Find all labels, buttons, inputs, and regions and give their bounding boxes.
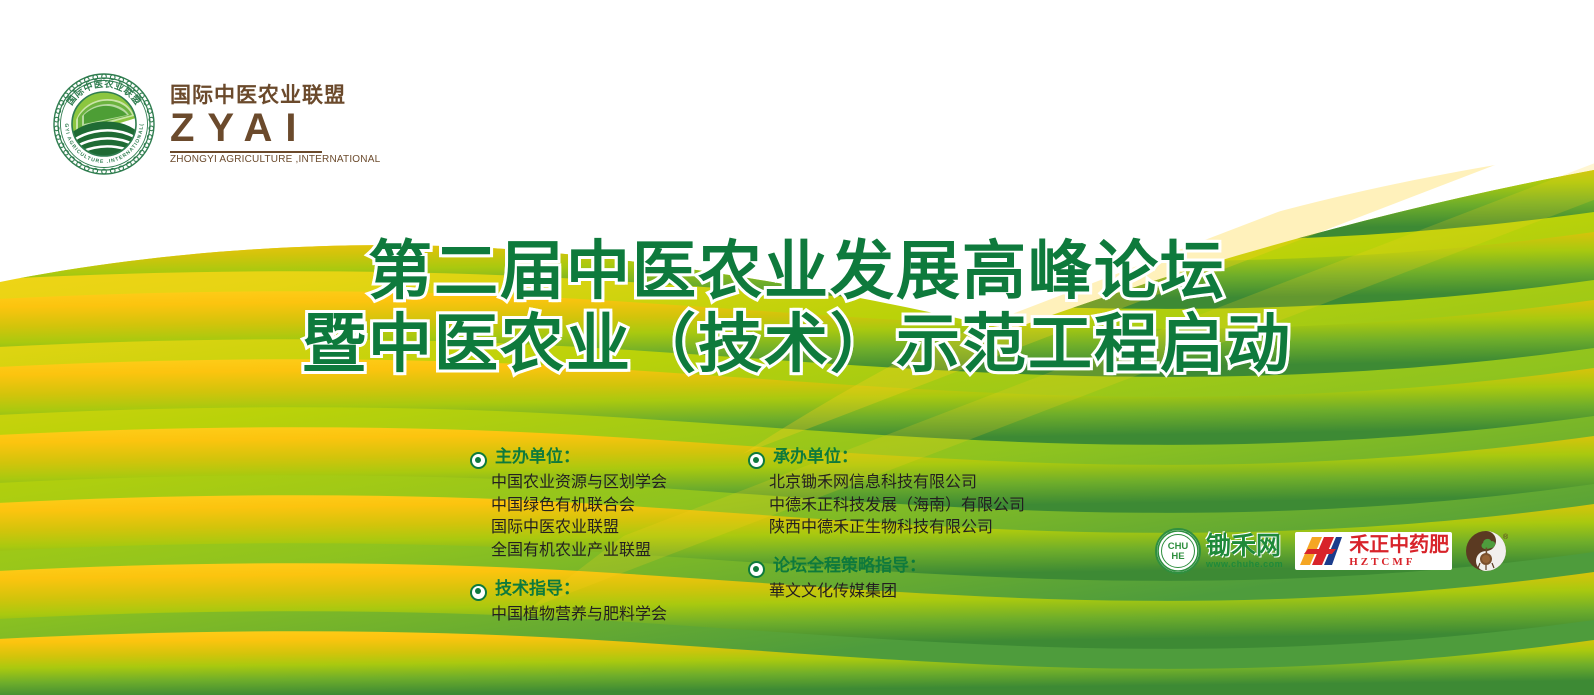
info-item-list: 中国农业资源与区划学会 中国绿色有机联合会 国际中医农业联盟 全国有机农业产业联… [491, 471, 732, 562]
sponsor-logo-tree: ® [1464, 529, 1508, 573]
info-heading: 技术指导： [495, 580, 580, 600]
list-item: 中国植物营养与肥料学会 [491, 603, 732, 626]
hzt-mark-icon [1298, 535, 1344, 567]
list-item: 華文文化传媒集团 [769, 580, 1048, 603]
poster-canvas: 国际中医农业联盟 ZHONGYI AGRICULTURE .INTERNATIO… [0, 0, 1594, 695]
zyai-seal-icon: 国际中医农业联盟 ZHONGYI AGRICULTURE .INTERNATIO… [52, 72, 156, 176]
bullet-icon [748, 561, 765, 578]
info-item-list: 中国植物营养与肥料学会 [491, 603, 732, 626]
svg-text:HE: HE [1171, 551, 1184, 562]
info-heading-row: 承办单位： [748, 448, 1048, 469]
list-item: 中德禾正科技发展（海南）有限公司 [769, 494, 1048, 517]
logo-chinese-name: 国际中医农业联盟 [170, 85, 346, 106]
info-group-co-organizers: 承办单位： 北京锄禾网信息科技有限公司 中德禾正科技发展（海南）有限公司 陕西中… [748, 448, 1048, 539]
info-heading-row: 技术指导： [470, 580, 732, 601]
sponsor-logo-chuhe: CHU HE 锄禾网 www.chuhe.com [1155, 528, 1283, 574]
list-item: 北京锄禾网信息科技有限公司 [769, 471, 1048, 494]
organizer-info: 主办单位： 中国农业资源与区划学会 中国绿色有机联合会 国际中医农业联盟 全国有… [470, 448, 1048, 644]
info-heading-row: 主办单位： [470, 448, 732, 469]
info-column-left: 主办单位： 中国农业资源与区划学会 中国绿色有机联合会 国际中医农业联盟 全国有… [470, 448, 732, 644]
chuhe-seal-icon: CHU HE [1155, 528, 1201, 574]
logo-wordmark: 国际中医农业联盟 ZYAI ZHONGYI AGRICULTURE ,INTER… [170, 83, 346, 165]
tree-yinyang-icon: ® [1464, 529, 1508, 573]
info-group-strategy-guidance: 论坛全程策略指导： 華文文化传媒集团 [748, 557, 1048, 603]
list-item: 中国绿色有机联合会 [491, 494, 732, 517]
info-column-right: 承办单位： 北京锄禾网信息科技有限公司 中德禾正科技发展（海南）有限公司 陕西中… [748, 448, 1048, 644]
info-item-list: 華文文化传媒集团 [769, 580, 1048, 603]
info-group-hosts: 主办单位： 中国农业资源与区划学会 中国绿色有机联合会 国际中医农业联盟 全国有… [470, 448, 732, 562]
bullet-icon [470, 584, 487, 601]
logo-acronym: ZYAI [170, 109, 346, 147]
logo-english-name: ZHONGYI AGRICULTURE ,INTERNATIONAL [170, 151, 322, 165]
sponsor-logo-strip: CHU HE 锄禾网 www.chuhe.com 禾正中药肥 [1155, 528, 1508, 574]
chuhe-name: 锄禾网 [1206, 533, 1283, 558]
info-heading: 论坛全程策略指导： [773, 557, 926, 577]
svg-text:®: ® [1503, 533, 1508, 541]
info-group-technical-guidance: 技术指导： 中国植物营养与肥料学会 [470, 580, 732, 626]
bullet-icon [470, 452, 487, 469]
info-heading: 承办单位： [773, 448, 858, 468]
list-item: 国际中医农业联盟 [491, 516, 732, 539]
list-item: 中国农业资源与区划学会 [491, 471, 732, 494]
info-heading-row: 论坛全程策略指导： [748, 557, 1048, 578]
list-item: 全国有机农业产业联盟 [491, 539, 732, 562]
hzt-name: 禾正中药肥 [1349, 534, 1449, 554]
bullet-icon [748, 452, 765, 469]
organization-logo: 国际中医农业联盟 ZHONGYI AGRICULTURE .INTERNATIO… [52, 72, 346, 176]
list-item: 陕西中德禾正生物科技有限公司 [769, 516, 1048, 539]
hzt-abbreviation: HZTCMF [1349, 556, 1449, 568]
sponsor-logo-hzt: 禾正中药肥 HZTCMF [1295, 532, 1452, 570]
info-item-list: 北京锄禾网信息科技有限公司 中德禾正科技发展（海南）有限公司 陕西中德禾正生物科… [769, 471, 1048, 539]
info-heading: 主办单位： [495, 448, 580, 468]
chuhe-url: www.chuhe.com [1206, 559, 1283, 569]
